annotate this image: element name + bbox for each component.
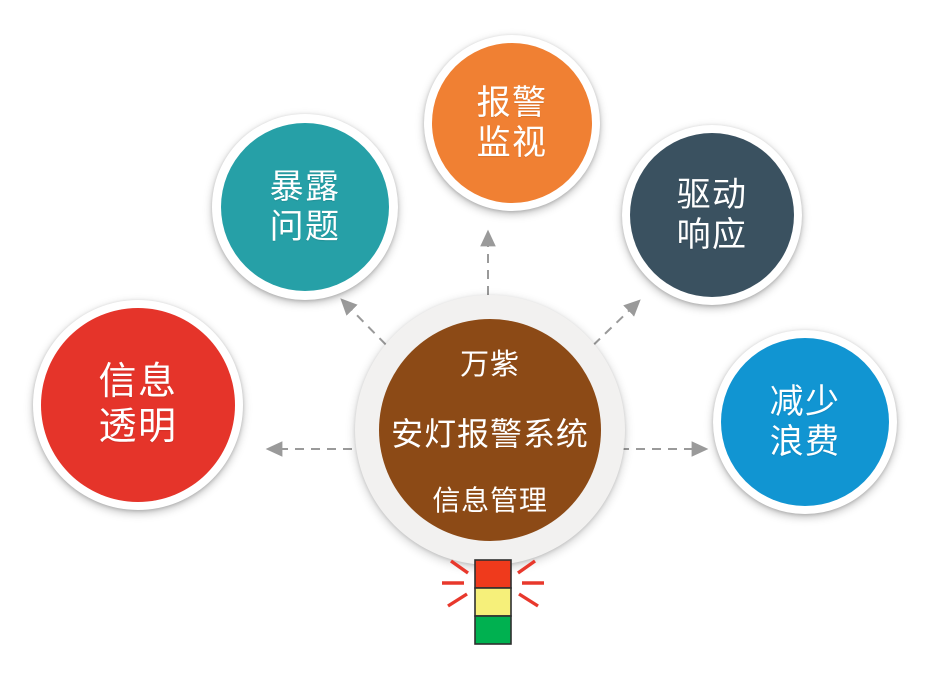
- node-alarm-monitoring[interactable]: 报警 监视: [424, 35, 600, 211]
- andon-light-tower-icon: [428, 548, 558, 652]
- node-drive-response-label: 驱动 响应: [677, 175, 748, 255]
- node-drive-response-fill: 驱动 响应: [630, 133, 794, 297]
- node-expose-problems-label: 暴露 问题: [270, 167, 341, 247]
- node-reduce-waste-label: 减少 浪费: [770, 382, 841, 462]
- node-information-transparency-label: 信息 透明: [98, 360, 177, 450]
- andon-lamp-stack: [475, 560, 511, 644]
- node-center-hub[interactable]: 万紫 安灯报警系统 信息管理: [355, 295, 625, 565]
- andon-flash-rays-right: [518, 561, 544, 606]
- node-expose-problems-fill: 暴露 问题: [221, 123, 389, 291]
- andon-red-lamp: [475, 560, 511, 588]
- node-information-transparency-fill: 信息 透明: [41, 308, 235, 502]
- node-information-transparency[interactable]: 信息 透明: [33, 300, 243, 510]
- andon-yellow-lamp: [475, 588, 511, 616]
- andon-flash-rays-left: [442, 561, 468, 606]
- hub-label-line-3: 信息管理: [432, 479, 547, 519]
- node-center-hub-fill: 万紫 安灯报警系统 信息管理: [379, 319, 601, 541]
- andon-green-lamp: [475, 616, 511, 644]
- node-drive-response[interactable]: 驱动 响应: [622, 125, 802, 305]
- node-alarm-monitoring-fill: 报警 监视: [432, 43, 592, 203]
- node-alarm-monitoring-label: 报警 监视: [477, 83, 548, 163]
- node-expose-problems[interactable]: 暴露 问题: [212, 114, 398, 300]
- diagram-canvas: 报警 监视 暴露 问题 驱动 响应 信息 透明 减少 浪费 万紫 安灯报警系统 …: [0, 0, 939, 680]
- node-reduce-waste-fill: 减少 浪费: [721, 338, 889, 506]
- hub-label-line-2: 安灯报警系统: [391, 409, 589, 455]
- hub-label-line-1: 万紫: [460, 341, 520, 383]
- node-reduce-waste[interactable]: 减少 浪费: [713, 330, 897, 514]
